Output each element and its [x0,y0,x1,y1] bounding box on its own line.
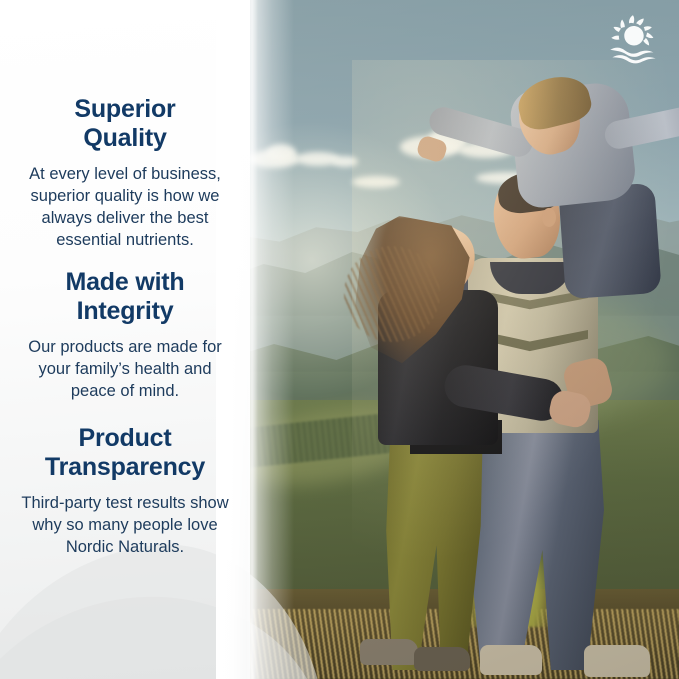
benefit-heading-line-1: Product [78,424,171,452]
benefit-body: Third-party test results show why so man… [0,493,250,559]
benefit-heading: Superior Quality [0,95,250,153]
benefit-heading-line-1: Made with [65,268,184,296]
promo-image: Superior Quality At every level of busin… [0,0,679,679]
benefit-body: At every level of business, superior qua… [0,164,250,252]
benefit-product-transparency: Product Transparency Third-party test re… [0,424,250,559]
man-shoe [480,645,542,675]
child-left-hand [415,134,448,164]
benefit-heading-line-2: Integrity [77,297,174,325]
benefit-superior-quality: Superior Quality At every level of busin… [0,95,250,252]
benefit-heading-line-2: Quality [83,124,166,152]
man-jeans [464,420,604,670]
man-shoe [584,645,650,677]
sun-wave-logo-icon [607,14,661,64]
benefit-heading-line-2: Transparency [45,453,205,481]
woman-shoe [360,639,418,665]
man-ear [542,208,556,227]
woman-shoe [414,647,470,671]
benefit-heading: Product Transparency [0,424,250,482]
benefit-heading: Made with Integrity [0,268,250,326]
benefit-heading-line-1: Superior [74,95,175,123]
lifestyle-photo [232,0,679,679]
family-group [232,0,679,679]
benefits-list: Superior Quality At every level of busin… [0,0,250,679]
benefit-body: Our products are made for your family’s … [0,337,250,403]
benefit-made-with-integrity: Made with Integrity Our products are mad… [0,268,250,403]
woman-hair-wisps [344,246,440,342]
woman-pants [382,430,487,670]
